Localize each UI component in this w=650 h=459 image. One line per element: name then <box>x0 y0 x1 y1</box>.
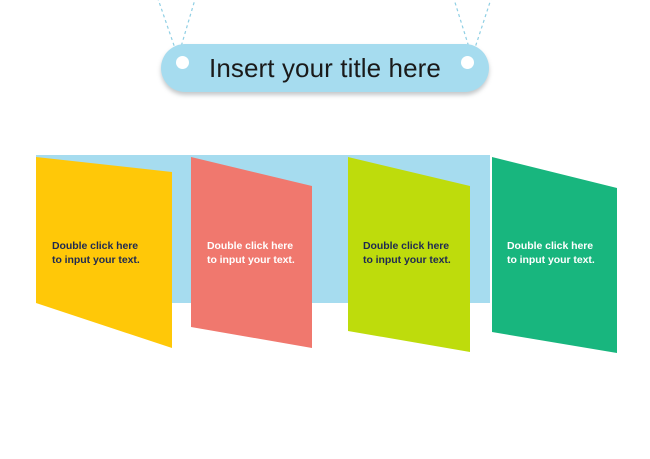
panel-label-3: Double click here to input your text. <box>363 240 451 268</box>
panel-label-2: Double click here to input your text. <box>207 240 295 268</box>
panel-label-1: Double click here to input your text. <box>52 240 140 268</box>
title-banner[interactable]: Insert your title here <box>161 44 489 92</box>
slide-canvas: Double click here to input your text. Do… <box>0 0 650 459</box>
panel-label-4: Double click here to input your text. <box>507 240 595 268</box>
page-title: Insert your title here <box>161 44 489 92</box>
